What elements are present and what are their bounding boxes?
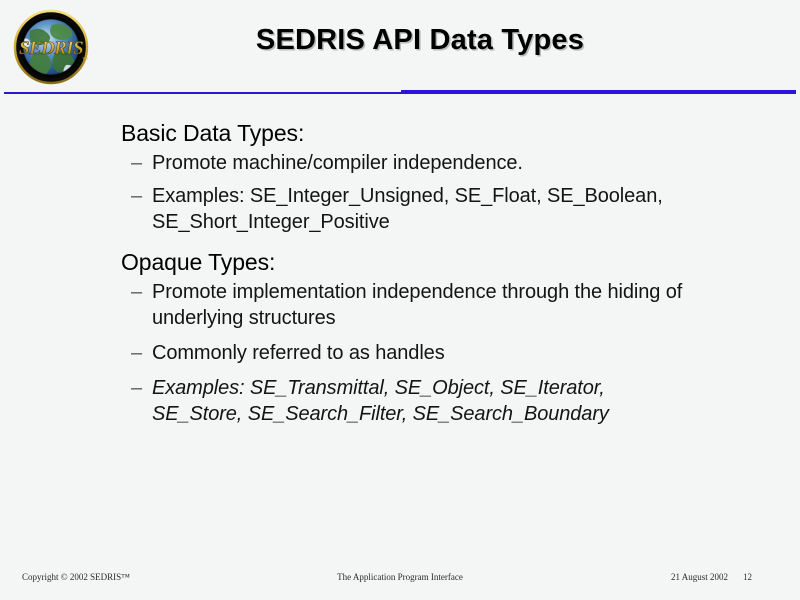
svg-text:SEDRIS: SEDRIS [19, 38, 83, 59]
list-item-text: Examples: SE_Integer_Unsigned, SE_Float,… [152, 185, 663, 233]
bullet-list: – Promote implementation independence th… [0, 279, 800, 427]
list-item: – Promote machine/compiler independence. [0, 150, 800, 176]
slide-header: SEDRIS ™ SEDRIS API Data Types [0, 0, 800, 100]
bullet-dash-icon: – [131, 340, 142, 366]
bullet-dash-icon: – [131, 279, 142, 305]
bullet-dash-icon: – [131, 375, 142, 401]
list-item: – Promote implementation independence th… [0, 279, 800, 331]
bullet-dash-icon: – [131, 150, 142, 176]
section-basic-data-types: Basic Data Types: – Promote machine/comp… [0, 118, 800, 235]
section-opaque-types: Opaque Types: – Promote implementation i… [0, 247, 800, 427]
section-heading: Opaque Types: [0, 247, 800, 277]
list-item: – Examples: SE_Transmittal, SE_Object, S… [0, 375, 800, 427]
bullet-dash-icon: – [131, 183, 142, 209]
slide-footer: Copyright © 2002 SEDRIS™ The Application… [0, 572, 800, 588]
list-item: – Commonly referred to as handles [0, 340, 800, 366]
list-item-text: Promote implementation independence thro… [152, 281, 682, 329]
header-divider-left [4, 92, 401, 94]
svg-text:™: ™ [82, 57, 88, 63]
bullet-list: – Promote machine/compiler independence.… [0, 150, 800, 235]
footer-page-number: 12 [743, 572, 752, 582]
list-item-text: Promote machine/compiler independence. [152, 152, 523, 174]
footer-date: 21 August 2002 [671, 572, 728, 582]
list-item-text: Examples: SE_Transmittal, SE_Object, SE_… [152, 377, 609, 425]
page-title: SEDRIS API Data Types [120, 24, 720, 57]
slide-body: Basic Data Types: – Promote machine/comp… [0, 118, 800, 436]
sedris-globe-logo-icon: SEDRIS ™ [8, 9, 94, 85]
header-divider-right [401, 90, 796, 94]
list-item: – Examples: SE_Integer_Unsigned, SE_Floa… [0, 183, 800, 235]
list-item-text: Commonly referred to as handles [152, 342, 445, 364]
section-heading: Basic Data Types: [0, 118, 800, 148]
